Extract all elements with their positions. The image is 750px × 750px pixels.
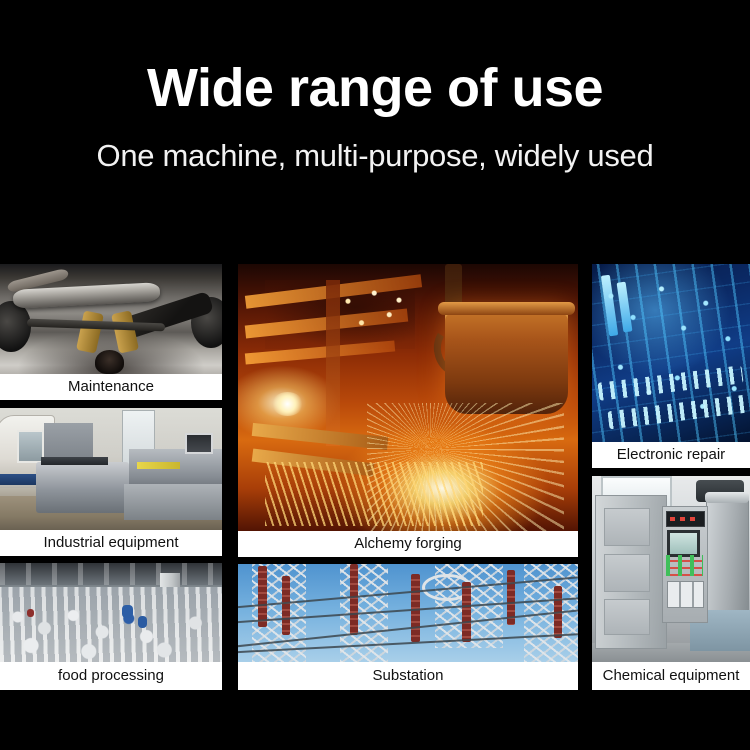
use-case-tile-industrial-equipment[interactable]: Industrial equipment xyxy=(0,408,222,556)
substation-photo xyxy=(238,564,578,662)
cnc-workshop-illustration xyxy=(0,408,222,530)
use-case-caption-electronic-repair: Electronic repair xyxy=(592,442,750,468)
machine-base-shape xyxy=(124,484,222,521)
use-case-tile-alchemy-forging[interactable]: Alchemy forging xyxy=(238,264,578,557)
maintenance-photo xyxy=(0,264,222,374)
cabinet-panel-shape-3 xyxy=(604,599,649,635)
background-sparks-shape xyxy=(333,285,408,338)
mechanic-head-shape xyxy=(95,350,124,374)
insulator-shape-5 xyxy=(462,582,470,643)
ceiling-lights-shape xyxy=(0,563,222,585)
insulator-shape-3 xyxy=(350,564,358,635)
use-case-caption-substation: Substation xyxy=(238,662,578,690)
tire-left-shape xyxy=(0,301,31,352)
machine-monitor-shape xyxy=(185,433,212,455)
cabinet-panel-shape-1 xyxy=(604,508,649,547)
food-factory-illustration xyxy=(0,563,222,662)
food-processing-photo xyxy=(0,563,222,662)
molten-ladle-shape xyxy=(445,307,567,414)
drive-shaft-shape xyxy=(76,311,104,354)
use-case-tile-maintenance[interactable]: Maintenance xyxy=(0,264,222,400)
use-case-caption-food-processing: food processing xyxy=(0,662,222,690)
insulator-shape-1 xyxy=(258,566,266,627)
machine-body-center-shape xyxy=(36,462,129,513)
indicator-leds-shape xyxy=(666,555,703,576)
chemical-cabinet-illustration xyxy=(592,476,750,662)
car-underside-illustration xyxy=(0,264,222,374)
panel-buttons-shape xyxy=(667,581,704,608)
use-case-caption-alchemy-forging: Alchemy forging xyxy=(238,531,578,557)
use-case-grid: Maintenance xyxy=(0,0,750,750)
industrial-equipment-photo xyxy=(0,408,222,530)
electronic-repair-photo xyxy=(592,264,750,442)
use-case-tile-food-processing[interactable]: food processing xyxy=(0,563,222,690)
work-lamp-shape xyxy=(272,392,303,416)
use-case-caption-maintenance: Maintenance xyxy=(0,374,222,400)
operator-panel-shape xyxy=(662,506,708,623)
tank-lid-shape xyxy=(705,492,749,502)
substation-illustration xyxy=(238,564,578,662)
use-case-tile-electronic-repair[interactable]: Electronic repair xyxy=(592,264,750,468)
machine-worktable-shape xyxy=(41,457,108,465)
machine-label-shape xyxy=(137,462,180,468)
promo-banner: Wide range of use One machine, multi-pur… xyxy=(0,0,750,750)
foundry-illustration xyxy=(238,264,578,531)
use-case-caption-chemical-equipment: Chemical equipment xyxy=(592,662,750,690)
blue-pallet-shape xyxy=(0,474,36,485)
blue-uniform-shape-1 xyxy=(122,605,133,619)
blue-uniform-shape-2 xyxy=(138,616,147,628)
process-tank-shape xyxy=(706,498,749,615)
cabinet-panel-shape-2 xyxy=(604,554,649,593)
control-cabinet-shape xyxy=(595,495,667,650)
use-case-tile-chemical-equipment[interactable]: Chemical equipment xyxy=(592,476,750,690)
panel-screen-shape xyxy=(667,530,700,557)
alchemy-forging-photo xyxy=(238,264,578,531)
workers-crowd-shape xyxy=(0,587,222,662)
digital-display-shape xyxy=(666,511,705,527)
molten-stream-shape xyxy=(265,462,483,526)
chemical-equipment-photo xyxy=(592,476,750,662)
use-case-tile-substation[interactable]: Substation xyxy=(238,564,578,690)
use-case-caption-industrial-equipment: Industrial equipment xyxy=(0,530,222,556)
circuit-board-illustration xyxy=(592,264,750,442)
insulator-shape-2 xyxy=(282,576,290,635)
